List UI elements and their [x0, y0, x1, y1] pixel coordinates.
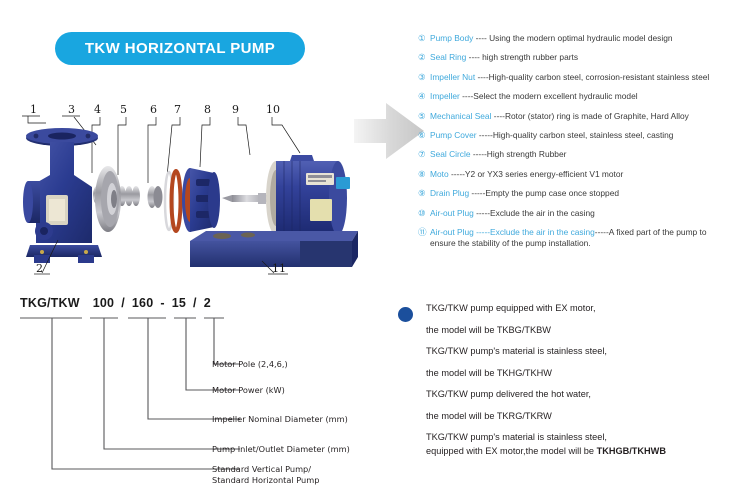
label-standard-pump-line1: Standard Vertical Pump/ — [212, 464, 311, 475]
part-description: Y2 or YX3 series energy-efficient V1 mot… — [465, 169, 623, 179]
svg-text:4: 4 — [94, 103, 101, 116]
impeller-part — [95, 166, 121, 232]
svg-text:3: 3 — [68, 103, 75, 116]
pump-spec-sheet: TKW HORIZONTAL PUMP — [0, 0, 756, 500]
part-description: Exclude the air in the casing — [490, 208, 595, 218]
part-item: ⑪ Air-out Plug -----Exclude the air in t… — [418, 227, 754, 250]
part-separator: ---- — [475, 72, 488, 82]
part-number: ③ — [418, 72, 430, 83]
label-standard-pump-line2: Standard Horizontal Pump — [212, 475, 319, 486]
svg-text:5: 5 — [120, 103, 127, 116]
part-description: Empty the pump case once stopped — [485, 188, 619, 198]
page-title: TKW HORIZONTAL PUMP — [85, 40, 275, 57]
part-name: Impeller — [430, 91, 460, 101]
part-separator: ----- — [449, 169, 465, 179]
part-name: Moto — [430, 169, 449, 179]
part-description: Select the modern excellent hydraulic mo… — [473, 91, 637, 101]
part-name: Impeller Nut — [430, 72, 475, 82]
part-item: ④ Impeller ----Select the modern excelle… — [418, 91, 754, 102]
note-text-model: TKHGB/TKHWB — [597, 446, 666, 456]
note-line: TKG/TKW pump's material is stainless ste… — [398, 346, 750, 357]
part-number: ⑤ — [418, 111, 430, 122]
part-name: Pump Cover — [430, 130, 477, 140]
part-separator: ---- — [466, 52, 482, 62]
note-line: TKG/TKW pump's material is stainless ste… — [398, 432, 750, 443]
part-name: Seal Circle — [430, 149, 471, 159]
part-number: ⑨ — [418, 188, 430, 199]
note-line: the model will be TKRG/TKRW — [398, 411, 750, 422]
part-separator: ----- — [477, 130, 493, 140]
note-line: the model will be TKBG/TKBW — [398, 325, 750, 336]
part-separator-secondary: ----- — [595, 227, 609, 237]
note-text-prefix: equipped with EX motor,the model will be — [426, 446, 597, 456]
label-motor-pole: Motor Pole (2,4,6,) — [212, 359, 288, 370]
note-line-final: equipped with EX motor,the model will be… — [398, 446, 750, 457]
svg-text:2: 2 — [36, 262, 43, 275]
svg-text:9: 9 — [232, 103, 239, 116]
part-number: ④ — [418, 91, 430, 102]
part-separator: ---- — [460, 91, 473, 101]
part-description: A fixed part of the pump to — [609, 227, 707, 237]
part-item: ② Seal Ring ---- high strength rubber pa… — [418, 52, 754, 63]
part-number: ⑪ — [418, 227, 430, 238]
svg-text:8: 8 — [204, 103, 211, 116]
part-item: ⑨ Drain Plug -----Empty the pump case on… — [418, 188, 754, 199]
part-description-primary: Exclude the air in the casing — [490, 227, 595, 237]
part-separator: ----- — [474, 208, 490, 218]
right-arrow-icon — [352, 95, 428, 167]
svg-text:11: 11 — [272, 262, 286, 275]
part-item: ③ Impeller Nut ----High-quality carbon s… — [418, 72, 754, 83]
exploded-pump-diagram: 1 3 4 5 6 7 8 9 10 — [0, 95, 360, 290]
part-item: ⑥ Pump Cover -----High-quality carbon st… — [418, 130, 754, 141]
svg-text:1: 1 — [30, 103, 37, 116]
part-description: High strength Rubber — [487, 149, 567, 159]
part-name: Air-out Plug — [430, 208, 474, 218]
part-description: Using the modern optimal hydraulic model… — [489, 33, 672, 43]
part-item: ⑦ Seal Circle -----High strength Rubber — [418, 149, 754, 160]
part-number: ① — [418, 33, 430, 44]
part-number: ⑩ — [418, 208, 430, 219]
part-name: Seal Ring — [430, 52, 466, 62]
part-item: ① Pump Body ---- Using the modern optima… — [418, 33, 754, 44]
parts-description-list: ① Pump Body ---- Using the modern optima… — [418, 33, 754, 258]
title-banner: TKW HORIZONTAL PUMP — [55, 32, 305, 65]
part-item: ⑧ Moto -----Y2 or YX3 series energy-effi… — [418, 169, 754, 180]
label-impeller-diameter: Impeller Nominal Diameter (mm) — [212, 414, 348, 425]
leader-lines — [0, 296, 380, 496]
note-line: TKG/TKW pump equipped with EX motor, — [398, 303, 750, 314]
part-description: High-quality carbon steel, stainless ste… — [493, 130, 674, 140]
part-number: ⑧ — [418, 169, 430, 180]
svg-text:10: 10 — [266, 103, 280, 116]
part-separator: ----- — [469, 188, 485, 198]
part-number: ② — [418, 52, 430, 63]
callout-numbers: 1 3 4 5 6 7 8 9 10 — [30, 103, 280, 116]
part-name: Mechanical Seal — [430, 111, 491, 121]
note-line: the model will be TKHG/TKHW — [398, 368, 750, 379]
part-name: Air-out Plug — [430, 227, 474, 237]
part-number: ⑥ — [418, 130, 430, 141]
svg-text:6: 6 — [150, 103, 157, 116]
part-item: ⑩ Air-out Plug -----Exclude the air in t… — [418, 208, 754, 219]
part-number: ⑦ — [418, 149, 430, 160]
svg-text:7: 7 — [174, 103, 181, 116]
bullet-point-icon — [398, 307, 413, 322]
part-separator: ----- — [471, 149, 487, 159]
part-name: Pump Body — [430, 33, 473, 43]
part-description-line2: ensure the stability of the pump install… — [430, 238, 754, 250]
label-motor-power: Motor Power (kW) — [212, 385, 285, 396]
part-description: High-quality carbon steel, corrosion-res… — [489, 72, 710, 82]
pump-cover-part — [182, 168, 220, 232]
note-line: TKG/TKW pump delivered the hot water, — [398, 389, 750, 400]
model-code-breakdown: TKG/TKW 100 / 160 - 15 / 2 — [0, 296, 380, 496]
part-description: Rotor (stator) ring is made of Graphite,… — [505, 111, 689, 121]
part-separator: ---- — [473, 33, 489, 43]
pump-body-part — [23, 128, 102, 263]
part-name: Drain Plug — [430, 188, 469, 198]
part-separator: ---- — [491, 111, 504, 121]
part-separator: ----- — [474, 227, 490, 237]
motor-part — [266, 155, 350, 235]
part-description: high strength rubber parts — [482, 52, 578, 62]
seal-circle-part — [165, 171, 181, 231]
model-variant-notes: TKG/TKW pump equipped with EX motor, the… — [398, 303, 750, 457]
part-item: ⑤ Mechanical Seal ----Rotor (stator) rin… — [418, 111, 754, 122]
label-inlet-outlet-diameter: Pump Inlet/Outlet Diameter (mm) — [212, 444, 350, 455]
